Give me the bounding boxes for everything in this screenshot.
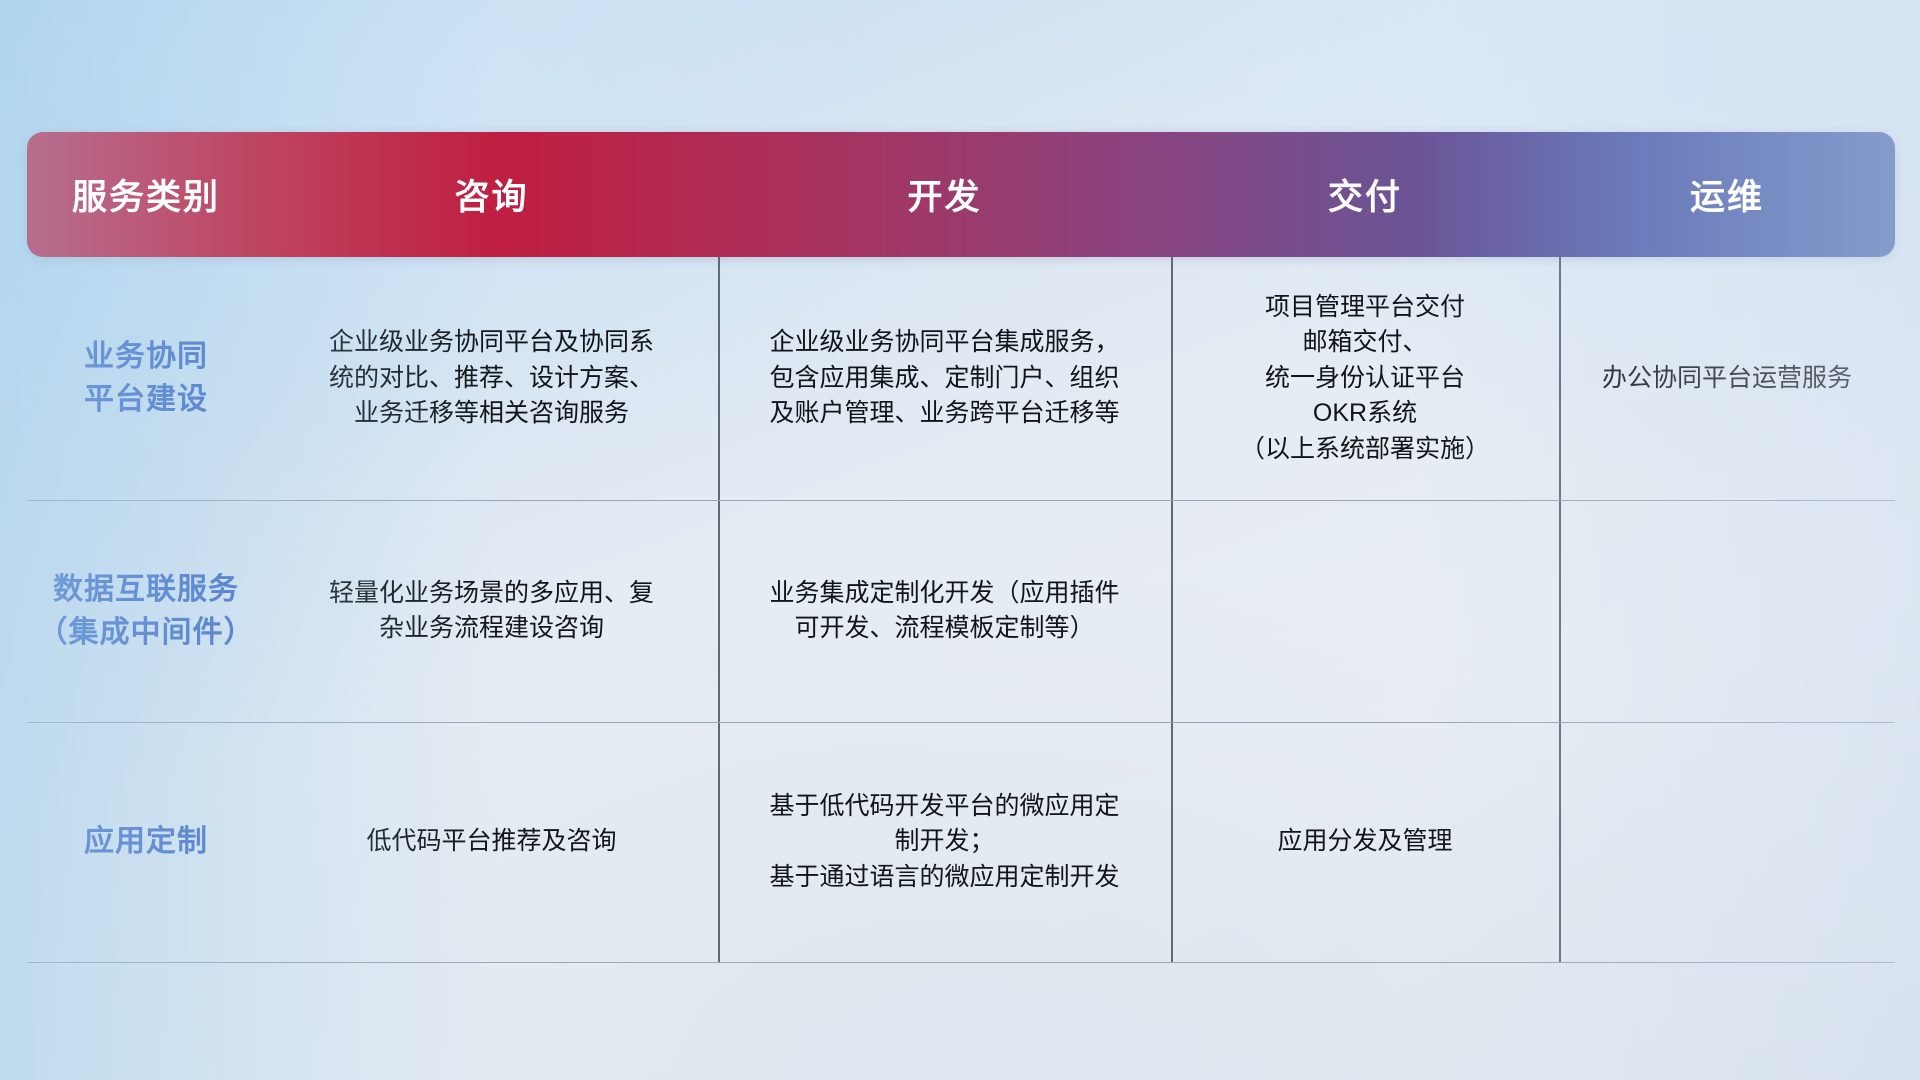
cell-text-development: 基于低代码开发平台的微应用定 制开发； 基于通过语言的微应用定制开发: [718, 771, 1171, 914]
table-row: 业务协同 平台建设 企业级业务协同平台及协同系 统的对比、推荐、设计方案、 业务…: [27, 257, 1895, 500]
cell-development: 基于低代码开发平台的微应用定 制开发； 基于通过语言的微应用定制开发: [718, 722, 1171, 962]
service-matrix-table-wrapper: 服务类别 咨询 开发 交付 运维: [27, 132, 1895, 963]
cell-operations: [1559, 722, 1895, 962]
cell-text-operations: [1559, 824, 1895, 860]
cell-consulting: 企业级业务协同平台及协同系 统的对比、推荐、设计方案、 业务迁移等相关咨询服务: [265, 257, 718, 500]
cell-category: 应用定制: [27, 722, 265, 962]
cell-delivery: [1171, 500, 1559, 722]
category-label: 业务协同 平台建设: [84, 340, 208, 417]
header-label-consulting: 咨询: [265, 169, 718, 220]
cell-text-delivery: 项目管理平台交付 邮箱交付、 统一身份认证平台 OKR系统 （以上系统部署实施）: [1171, 272, 1559, 486]
header-label-category: 服务类别: [27, 169, 265, 220]
table-header: 服务类别 咨询 开发 交付 运维: [27, 132, 1895, 257]
cell-development: 企业级业务协同平台集成服务， 包含应用集成、定制门户、组织 及账户管理、业务跨平…: [718, 257, 1171, 500]
cell-operations: 办公协同平台运营服务: [1559, 257, 1895, 500]
header-label-delivery: 交付: [1171, 169, 1559, 220]
cell-text-consulting: 低代码平台推荐及咨询: [265, 806, 718, 878]
header-label-operations: 运维: [1559, 169, 1895, 220]
page-background: 服务类别 咨询 开发 交付 运维: [0, 0, 1920, 1080]
table-row: 数据互联服务 （集成中间件） 轻量化业务场景的多应用、复 杂业务流程建设咨询 业…: [27, 500, 1895, 722]
table-row: 应用定制 低代码平台推荐及咨询 基于低代码开发平台的微应用定 制开发； 基于通过…: [27, 722, 1895, 962]
cell-category: 数据互联服务 （集成中间件）: [27, 500, 265, 722]
header-row: 服务类别 咨询 开发 交付 运维: [27, 132, 1895, 257]
cell-text-consulting: 企业级业务协同平台及协同系 统的对比、推荐、设计方案、 业务迁移等相关咨询服务: [265, 307, 718, 450]
cell-delivery: 项目管理平台交付 邮箱交付、 统一身份认证平台 OKR系统 （以上系统部署实施）: [1171, 257, 1559, 500]
table-body: 业务协同 平台建设 企业级业务协同平台及协同系 统的对比、推荐、设计方案、 业务…: [27, 257, 1895, 962]
header-cell-category: 服务类别: [27, 132, 265, 257]
cell-category: 业务协同 平台建设: [27, 257, 265, 500]
header-cell-operations: 运维: [1559, 132, 1895, 257]
cell-text-operations: 办公协同平台运营服务: [1559, 343, 1895, 415]
header-cell-development: 开发: [718, 132, 1171, 257]
cell-consulting: 轻量化业务场景的多应用、复 杂业务流程建设咨询: [265, 500, 718, 722]
header-label-development: 开发: [718, 169, 1171, 220]
cell-text-consulting: 轻量化业务场景的多应用、复 杂业务流程建设咨询: [265, 558, 718, 665]
cell-text-operations: [1559, 593, 1895, 629]
cell-consulting: 低代码平台推荐及咨询: [265, 722, 718, 962]
cell-text-development: 企业级业务协同平台集成服务， 包含应用集成、定制门户、组织 及账户管理、业务跨平…: [718, 307, 1171, 450]
category-label: 应用定制: [84, 825, 208, 858]
cell-delivery: 应用分发及管理: [1171, 722, 1559, 962]
category-label: 数据互联服务 （集成中间件）: [38, 573, 255, 650]
cell-text-delivery: [1171, 593, 1559, 629]
cell-operations: [1559, 500, 1895, 722]
cell-development: 业务集成定制化开发（应用插件 可开发、流程模板定制等）: [718, 500, 1171, 722]
cell-text-delivery: 应用分发及管理: [1171, 806, 1559, 878]
header-cell-consulting: 咨询: [265, 132, 718, 257]
service-matrix-table: 服务类别 咨询 开发 交付 运维: [27, 132, 1895, 963]
cell-text-development: 业务集成定制化开发（应用插件 可开发、流程模板定制等）: [718, 558, 1171, 665]
header-cell-delivery: 交付: [1171, 132, 1559, 257]
